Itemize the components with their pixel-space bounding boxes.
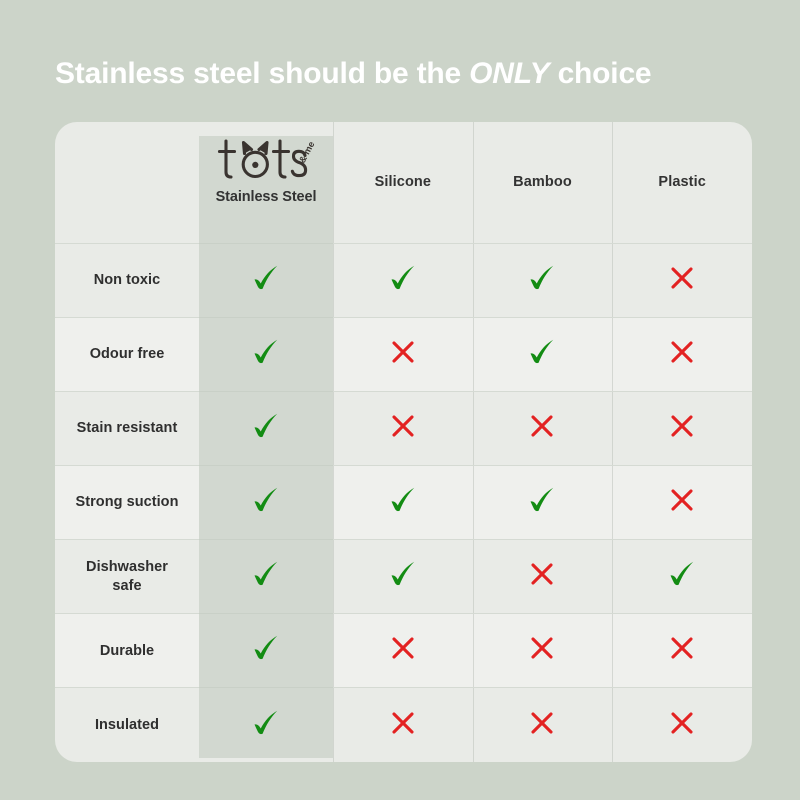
cross-icon: [667, 708, 697, 738]
cross-icon: [667, 263, 697, 293]
cross-icon: [527, 559, 557, 589]
comparison-card: & me Stainless Steel Silicone Bamboo Pla…: [55, 122, 752, 762]
row-label-strong-suction: Strong suction: [55, 465, 199, 539]
check-icon: [386, 557, 420, 591]
row-label-insulated: Insulated: [55, 688, 199, 762]
check-icon: [525, 335, 559, 369]
cell-non-toxic-bamboo: [473, 243, 613, 317]
table-corner-cell: [55, 122, 199, 243]
page-root: Stainless steel should be the ONLY choic…: [0, 0, 800, 800]
cross-icon: [527, 411, 557, 441]
cell-durable-bamboo: [473, 614, 613, 688]
cross-icon: [667, 485, 697, 515]
cell-odour-free-silicone: [333, 317, 473, 391]
row-label-odour-free: Odour free: [55, 317, 199, 391]
check-icon: [249, 631, 283, 665]
cell-strong-suction-bamboo: [473, 465, 613, 539]
check-icon: [249, 261, 283, 295]
page-title-emphasis: ONLY: [469, 57, 549, 90]
cell-dishwasher-safe-bamboo: [473, 540, 613, 614]
table-row: Non toxic: [55, 243, 752, 317]
cell-strong-suction-silicone: [333, 465, 473, 539]
table-header: & me Stainless Steel Silicone Bamboo Pla…: [55, 122, 752, 243]
page-title-prefix: Stainless steel should be the: [55, 57, 469, 90]
table-row: Dishwasher safe: [55, 540, 752, 614]
cell-durable-stainless-steel: [199, 614, 333, 688]
table-body: Non toxic Odour free Stain resistant: [55, 243, 752, 762]
cell-insulated-stainless-steel: [199, 688, 333, 762]
tots-and-me-logo: & me Stainless Steel: [199, 132, 333, 232]
cross-icon: [527, 633, 557, 663]
column-header-silicone: Silicone: [333, 122, 473, 243]
row-label-durable: Durable: [55, 614, 199, 688]
cell-non-toxic-silicone: [333, 243, 473, 317]
cell-dishwasher-safe-silicone: [333, 540, 473, 614]
column-header-stainless-steel: & me Stainless Steel: [199, 122, 333, 243]
header-row: & me Stainless Steel Silicone Bamboo Pla…: [55, 122, 752, 243]
cell-durable-plastic: [612, 614, 752, 688]
column-header-plastic: Plastic: [612, 122, 752, 243]
cross-icon: [388, 337, 418, 367]
cell-dishwasher-safe-stainless-steel: [199, 540, 333, 614]
cell-odour-free-stainless-steel: [199, 317, 333, 391]
cross-icon: [527, 708, 557, 738]
cell-stain-resistant-bamboo: [473, 391, 613, 465]
table-row: Stain resistant: [55, 391, 752, 465]
table-row: Strong suction: [55, 465, 752, 539]
check-icon: [665, 557, 699, 591]
check-icon: [386, 483, 420, 517]
row-label-dishwasher-safe: Dishwasher safe: [55, 540, 199, 614]
row-label-line-1: Dishwasher: [86, 559, 168, 575]
cross-icon: [667, 633, 697, 663]
tots-wordmark-icon: & me: [214, 136, 318, 184]
check-icon: [249, 335, 283, 369]
cell-strong-suction-plastic: [612, 465, 752, 539]
cell-stain-resistant-stainless-steel: [199, 391, 333, 465]
cell-non-toxic-plastic: [612, 243, 752, 317]
cell-non-toxic-stainless-steel: [199, 243, 333, 317]
check-icon: [249, 557, 283, 591]
check-icon: [386, 261, 420, 295]
cell-durable-silicone: [333, 614, 473, 688]
cross-icon: [388, 411, 418, 441]
table-row: Durable: [55, 614, 752, 688]
row-label-line-2: safe: [112, 578, 141, 594]
check-icon: [249, 483, 283, 517]
cell-dishwasher-safe-plastic: [612, 540, 752, 614]
page-title-suffix: choice: [549, 57, 651, 90]
check-icon: [525, 261, 559, 295]
cell-insulated-plastic: [612, 688, 752, 762]
row-label-non-toxic: Non toxic: [55, 243, 199, 317]
row-label-stain-resistant: Stain resistant: [55, 391, 199, 465]
table-row: Insulated: [55, 688, 752, 762]
table-row: Odour free: [55, 317, 752, 391]
check-icon: [249, 409, 283, 443]
cell-odour-free-plastic: [612, 317, 752, 391]
column-header-bamboo: Bamboo: [473, 122, 613, 243]
check-icon: [525, 483, 559, 517]
page-title: Stainless steel should be the ONLY choic…: [55, 57, 775, 91]
cell-stain-resistant-silicone: [333, 391, 473, 465]
logo-product-line: Stainless Steel: [216, 189, 317, 205]
cell-insulated-bamboo: [473, 688, 613, 762]
cell-insulated-silicone: [333, 688, 473, 762]
cross-icon: [388, 708, 418, 738]
cell-strong-suction-stainless-steel: [199, 465, 333, 539]
check-icon: [249, 706, 283, 740]
cell-odour-free-bamboo: [473, 317, 613, 391]
cross-icon: [667, 337, 697, 367]
cross-icon: [388, 633, 418, 663]
comparison-table: & me Stainless Steel Silicone Bamboo Pla…: [55, 122, 752, 762]
cell-stain-resistant-plastic: [612, 391, 752, 465]
cross-icon: [667, 411, 697, 441]
